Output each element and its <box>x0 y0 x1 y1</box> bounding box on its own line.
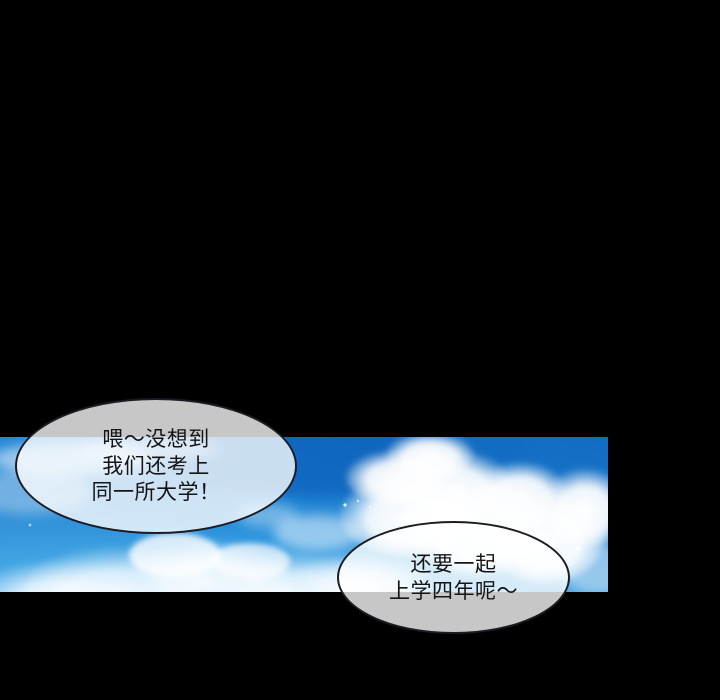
bubble-text-line: 喂～没想到 <box>102 426 210 453</box>
bubble-text-line: 上学四年呢～ <box>389 578 518 605</box>
speech-bubble-right: 还要一起 上学四年呢～ <box>337 521 570 634</box>
comic-page: 喂～没想到 我们还考上 同一所大学！ 还要一起 上学四年呢～ <box>0 0 720 700</box>
speech-bubble-left: 喂～没想到 我们还考上 同一所大学！ <box>15 398 297 534</box>
bubble-text-line: 还要一起 <box>411 551 497 578</box>
bubble-text-line: 同一所大学！ <box>92 479 221 506</box>
bubble-text-line: 我们还考上 <box>102 453 210 480</box>
